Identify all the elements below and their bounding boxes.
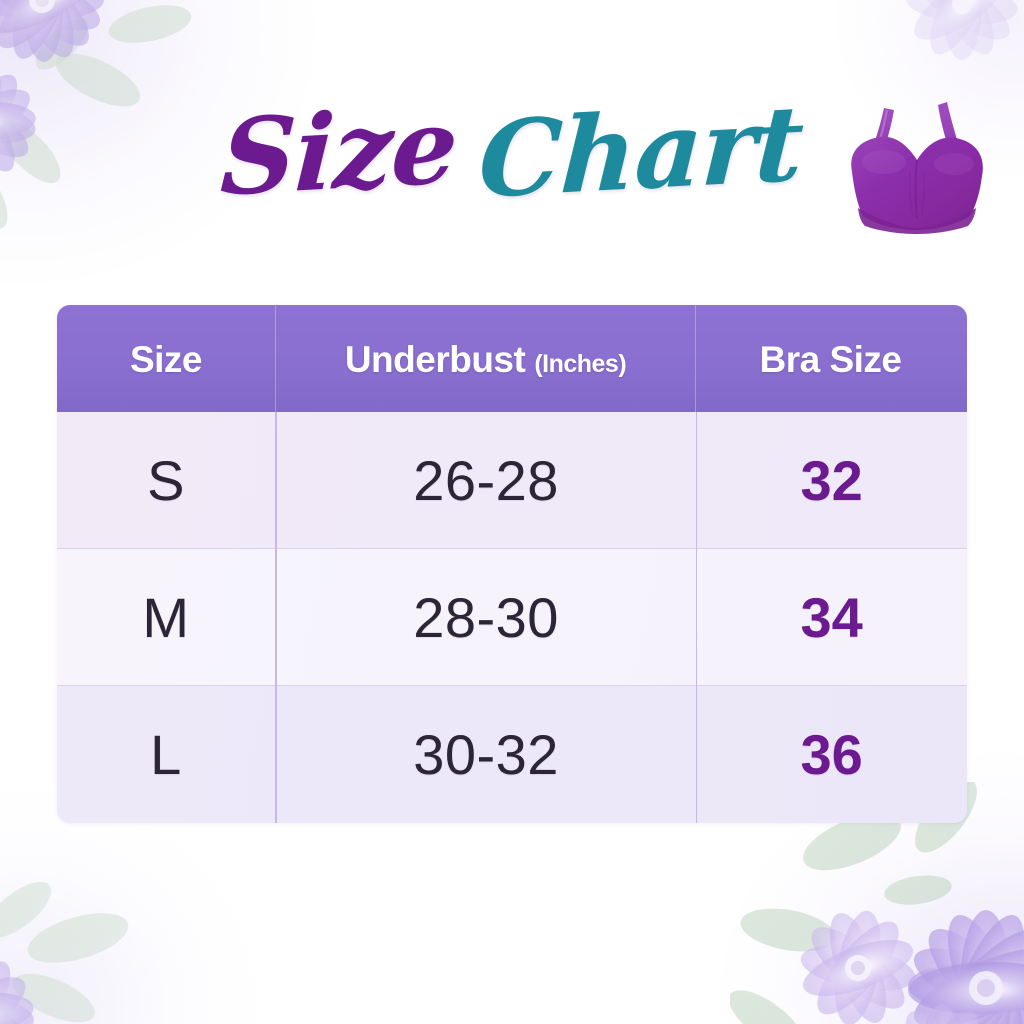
floral-bottom-left-icon bbox=[0, 848, 198, 1024]
cell-size: L bbox=[57, 686, 275, 823]
bra-illustration bbox=[834, 80, 1000, 240]
header-label-bra-size: Bra Size bbox=[759, 339, 901, 381]
title-word-size: Size bbox=[219, 94, 460, 211]
cell-bra-size: 32 bbox=[697, 412, 966, 549]
cell-bra-size: 36 bbox=[697, 686, 966, 823]
size-chart-canvas: Size Chart bbox=[0, 0, 1024, 1024]
cell-underbust: 26-28 bbox=[277, 412, 696, 549]
bra-icon bbox=[834, 80, 1000, 240]
cell-underbust: 30-32 bbox=[277, 686, 696, 823]
header-cell-bra-size: Bra Size bbox=[696, 305, 965, 412]
table-row: S 26-28 32 bbox=[57, 412, 967, 549]
table-row: M 28-30 34 bbox=[57, 549, 967, 686]
cell-size: M bbox=[57, 549, 275, 686]
table-header-row: Size Underbust (Inches) Bra Size bbox=[57, 305, 967, 412]
header-label-underbust: Underbust bbox=[345, 339, 526, 381]
header-label-underbust-unit: (Inches) bbox=[534, 350, 626, 379]
size-chart-table: Size Underbust (Inches) Bra Size S 26-28… bbox=[57, 305, 967, 823]
cell-underbust: 28-30 bbox=[277, 549, 696, 686]
header-cell-size: Size bbox=[57, 305, 275, 412]
cell-bra-size: 34 bbox=[697, 549, 966, 686]
cell-size: S bbox=[57, 412, 275, 549]
table-row: L 30-32 36 bbox=[57, 686, 967, 823]
title-word-chart: Chart bbox=[477, 91, 806, 212]
header-label-size: Size bbox=[130, 339, 202, 381]
header-cell-underbust: Underbust (Inches) bbox=[276, 305, 695, 412]
